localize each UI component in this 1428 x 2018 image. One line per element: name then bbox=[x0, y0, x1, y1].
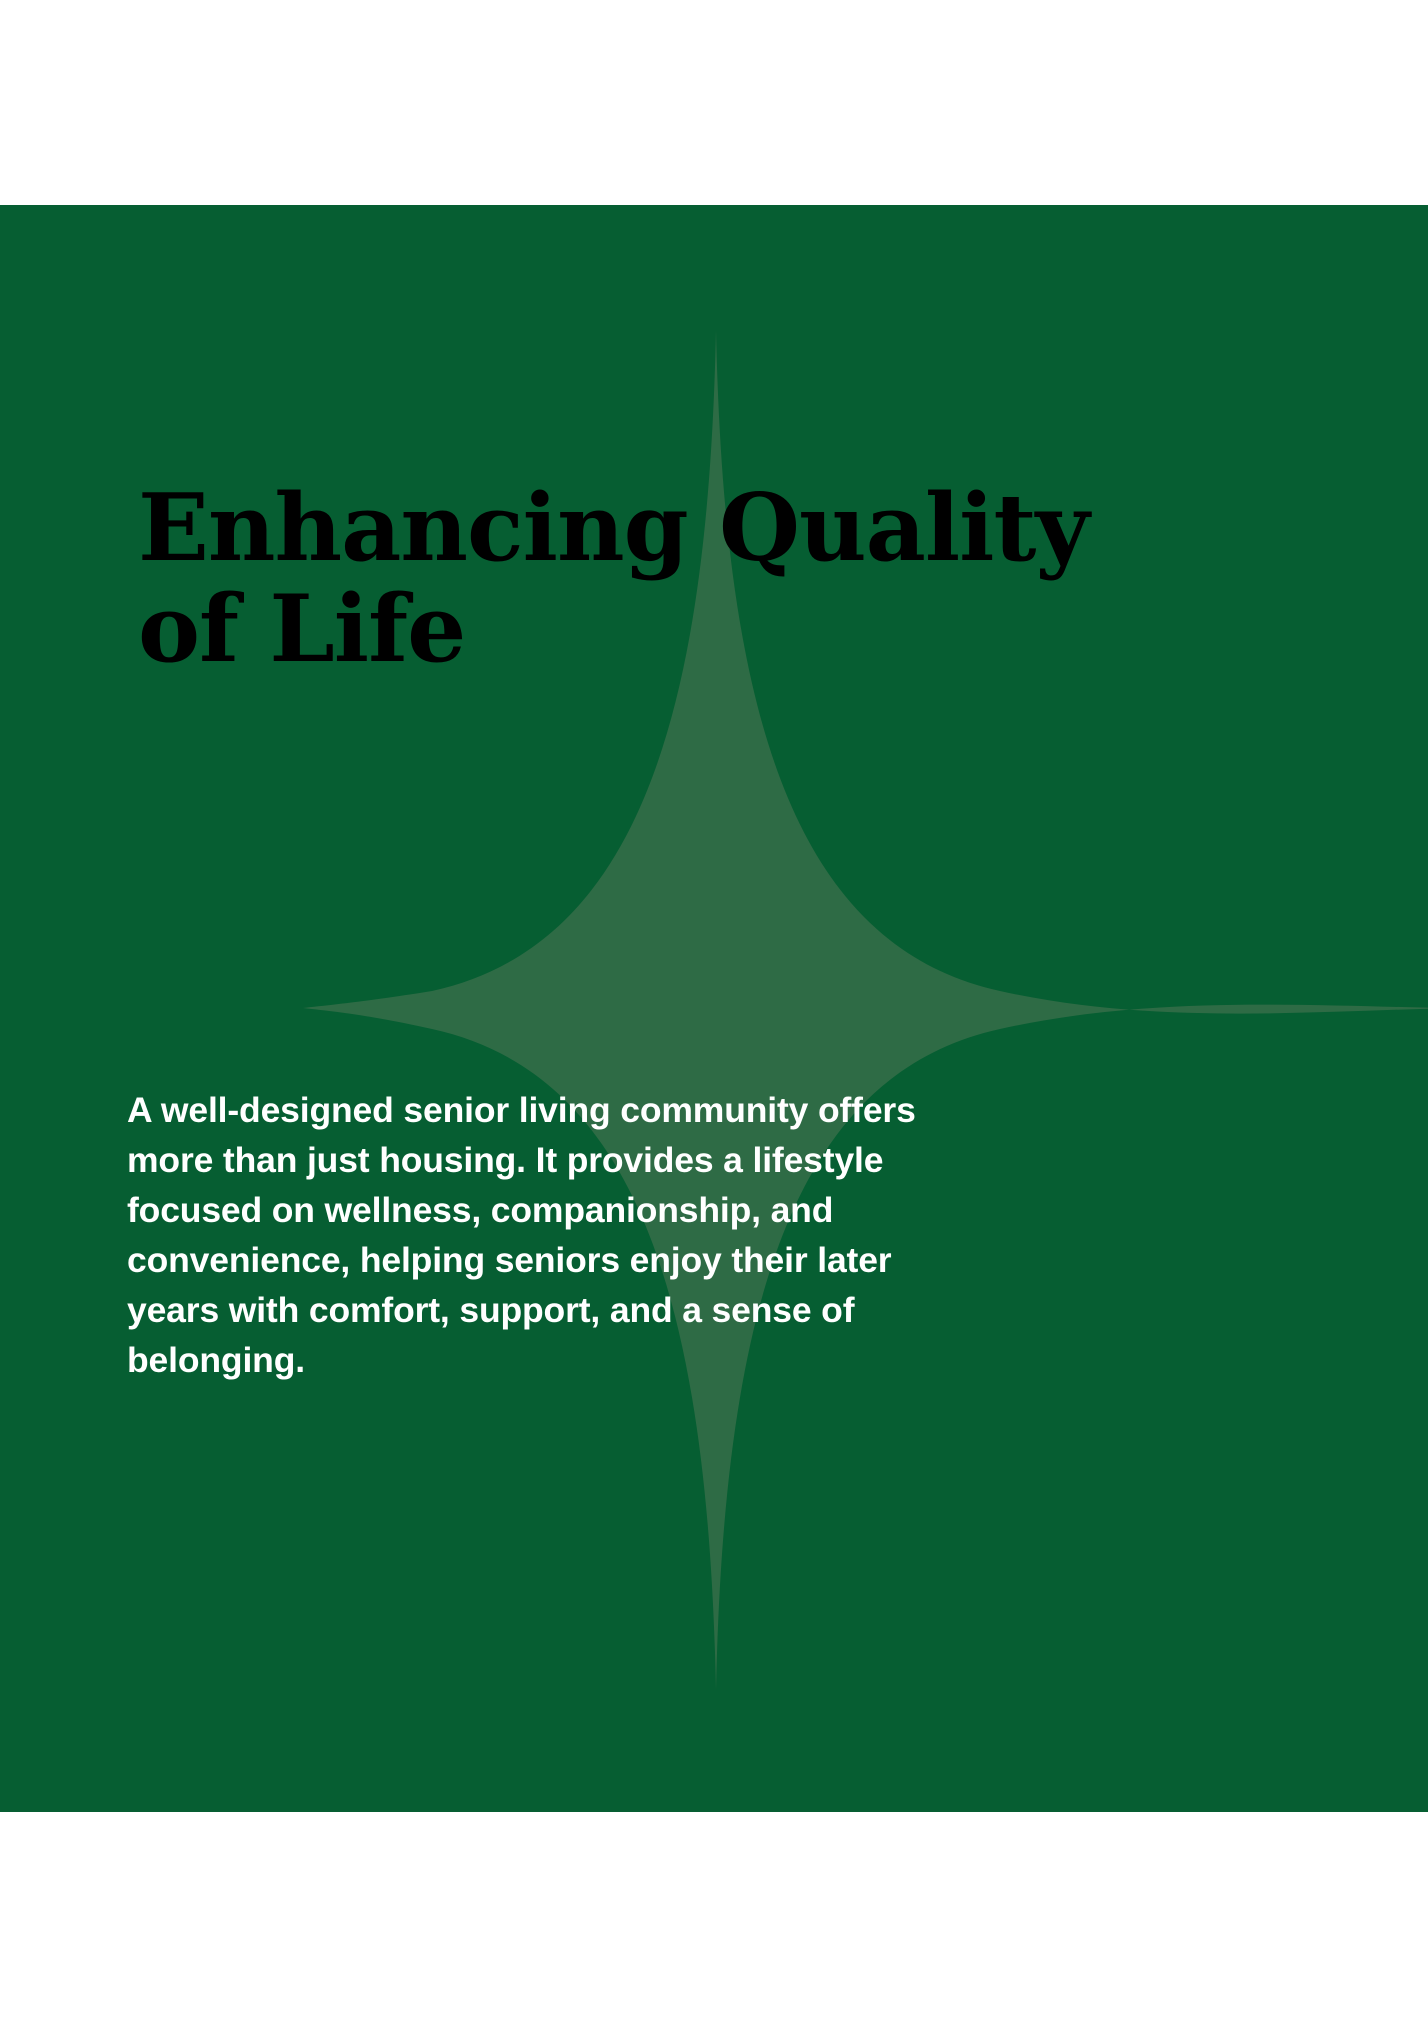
page-title: Enhancing Quality of Life bbox=[138, 477, 1388, 680]
sparkle-decoration-icon bbox=[0, 205, 1428, 1812]
body-paragraph: A well-designed senior living community … bbox=[127, 1085, 927, 1385]
green-content-panel: Enhancing Quality of Life A well-designe… bbox=[0, 205, 1428, 1812]
slide-canvas: Enhancing Quality of Life A well-designe… bbox=[0, 0, 1428, 2018]
